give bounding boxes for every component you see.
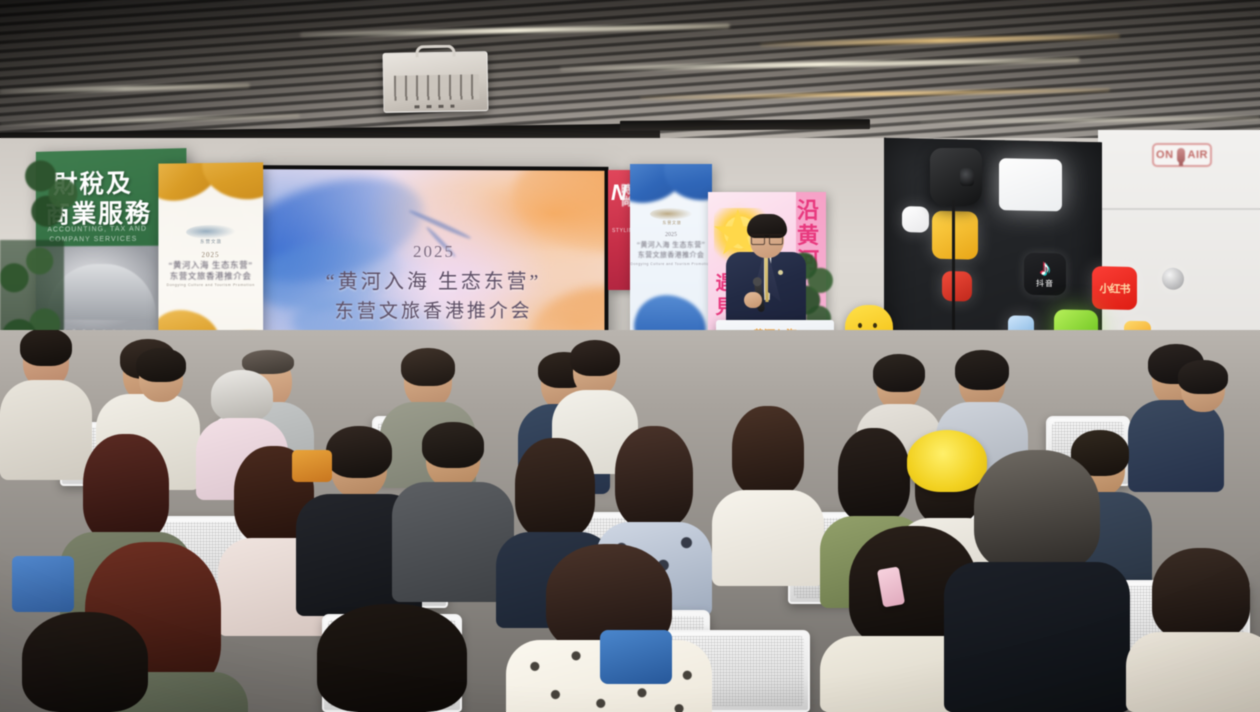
rollup-logo-mark: [186, 225, 236, 239]
rollup-year: 2025: [158, 251, 263, 259]
microphone-icon: [1177, 148, 1185, 163]
person-hair: [317, 604, 467, 712]
person-hair: [22, 612, 148, 712]
blue-banner-logo-caption: 东营文旅: [644, 220, 700, 226]
blue-banner-year: 2025: [630, 232, 712, 238]
on-air-sign: ON AIR: [1152, 143, 1212, 167]
plush-eye: [873, 323, 877, 328]
person-hair-grey: [974, 450, 1100, 572]
xiaohongshu-label: 小红书: [1100, 280, 1130, 297]
audience-person: [712, 406, 824, 586]
audience-person-foreground: [506, 544, 712, 712]
person-hair-long: [615, 426, 693, 528]
on-air-on-label: ON: [1156, 149, 1174, 161]
event-photo-scene: ON AIR ♪ 抖音 小红书: [0, 0, 1260, 712]
projector-lens-icon: [960, 168, 974, 186]
person-hair: [136, 348, 186, 382]
ceiling-beam: [620, 119, 870, 131]
person-hair: [401, 348, 455, 386]
audience-area: [0, 330, 1260, 712]
audience-person: [1160, 360, 1246, 480]
douyin-tiktok-icon: ♪ 抖音: [1024, 253, 1066, 296]
audience-person-foreground: [0, 612, 170, 712]
xiaohongshu-icon: 小红书: [1092, 266, 1137, 310]
on-air-air-label: AIR: [1188, 149, 1208, 161]
rollup-subline: Dongying Culture and Tourism Promotion: [158, 283, 263, 287]
red-square-icon: [942, 271, 972, 302]
blue-jacket-on-chair: [600, 630, 672, 684]
person-hair: [955, 350, 1009, 390]
grey-circle-icon: [1162, 268, 1184, 290]
blue-bag: [12, 556, 74, 612]
slide-year: 2025: [261, 242, 605, 262]
person-hair-long: [732, 406, 804, 496]
person-torso: [944, 562, 1130, 712]
presenter-hand: [744, 292, 762, 308]
person-hair: [1152, 548, 1250, 640]
foliage-decor: [22, 152, 84, 232]
audience-person-foreground: [1126, 548, 1260, 712]
presenter-lapel-pin: [778, 270, 783, 275]
audience-person-foreground: [296, 604, 488, 712]
slide-title-line2: 东营文旅香港推介会: [261, 296, 605, 324]
blue-banner-subline: Dongying Culture and Tourism Promotion: [630, 262, 712, 266]
ceiling-ac-unit: [382, 51, 488, 113]
music-note-glyph: ♪: [1040, 259, 1051, 277]
person-hair-long: [515, 438, 595, 538]
douyin-label: 抖音: [1036, 278, 1054, 289]
person-hair-long: [83, 434, 169, 542]
rollup-logo-caption: 东营文旅: [178, 239, 244, 245]
ac-pipe: [415, 45, 455, 58]
blue-banner-line2: 东营文旅香港推介会: [630, 250, 712, 260]
white-square-icon: [902, 206, 929, 233]
wall-seam: [1098, 208, 1260, 210]
rollup-line2: 东营文旅香港推介会: [158, 270, 263, 282]
handbag: [292, 450, 332, 482]
yellow-app-icon: [932, 211, 978, 260]
ceiling-projector: [930, 148, 982, 206]
glasses-icon: [751, 234, 783, 242]
audience-person-foreground: [944, 450, 1130, 712]
person-hair: [873, 354, 925, 392]
person-hair: [326, 426, 392, 478]
ac-indicator-lights: [414, 105, 454, 109]
blue-banner-line1: “黄河入海 生态东营”: [630, 240, 712, 250]
person-torso: [1126, 632, 1260, 712]
person-hair: [570, 340, 620, 376]
ac-grille: [394, 74, 479, 100]
person-hair: [1178, 360, 1228, 394]
person-torso: [712, 490, 824, 586]
ceiling: [0, 0, 1260, 150]
person-hair-grey: [211, 370, 273, 422]
plush-eye: [858, 323, 862, 328]
blank-white-panel-icon: [999, 158, 1062, 211]
person-hair: [20, 330, 72, 366]
blue-banner-logo-mark: [650, 208, 692, 220]
slide-title-line1: “黄河入海 生态东营”: [261, 265, 605, 294]
person-hair: [422, 422, 484, 468]
